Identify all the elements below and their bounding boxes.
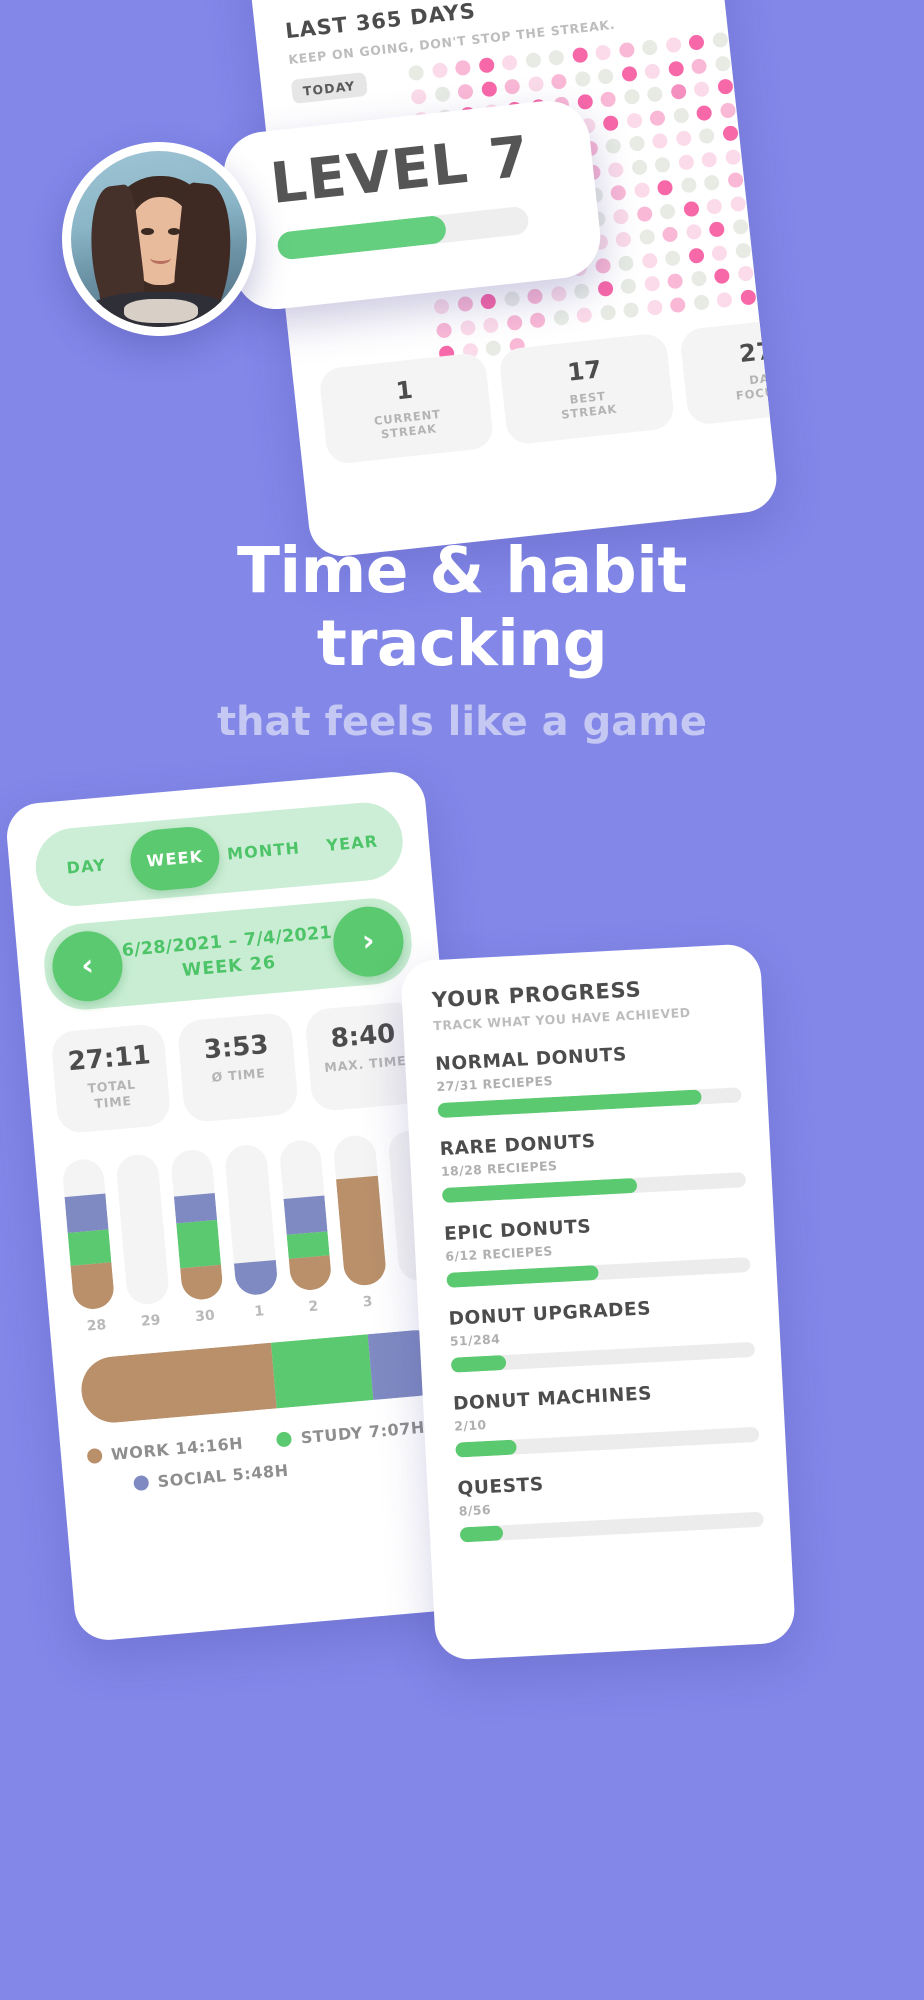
streak-dot (623, 89, 640, 106)
streak-dot (628, 135, 645, 152)
streak-dot (748, 146, 765, 163)
streak-dot (740, 76, 757, 93)
streak-dot (670, 83, 687, 100)
tab-week[interactable]: WEEK (128, 824, 222, 893)
streak-dot (602, 114, 619, 131)
streak-dot (776, 190, 780, 207)
progress-item-track (460, 1512, 764, 1543)
tab-month[interactable]: MONTH (218, 837, 308, 864)
streak-dot (685, 224, 702, 241)
streak-dot (753, 193, 770, 210)
streak-dot (638, 229, 655, 246)
headline-line-1: Time & habit (40, 534, 884, 607)
bar-segment-study (286, 1231, 329, 1259)
legend-item-work: WORK 14:16H (86, 1433, 244, 1466)
period-tab-bar[interactable]: DAY WEEK MONTH YEAR (33, 799, 406, 909)
streak-dot (599, 304, 616, 321)
streak-dot (755, 216, 772, 233)
streak-dot (774, 167, 780, 184)
streak-dot (698, 128, 715, 145)
progress-item-fill (437, 1089, 702, 1118)
streak-dot (576, 94, 593, 111)
streak-dot (667, 273, 684, 290)
progress-item-track (442, 1172, 746, 1203)
summary-total-time: 27:11 TOTALTIME (50, 1023, 172, 1134)
streak-dot (408, 65, 425, 82)
bar-segment-social (283, 1195, 327, 1234)
streak-dot (763, 73, 779, 90)
legend-color-swatch (87, 1447, 103, 1463)
streak-dot (610, 185, 627, 202)
streak-dot (779, 214, 780, 231)
streak-dot (724, 148, 741, 165)
legend-item-study: STUDY 7:07H (276, 1417, 426, 1449)
streak-dot (618, 42, 635, 59)
streak-dot (597, 281, 614, 298)
streak-dot (706, 198, 723, 215)
headline-subtitle: that feels like a game (40, 698, 884, 746)
streak-dot (613, 208, 630, 225)
streak-dot (431, 62, 448, 79)
streak-dot (760, 263, 777, 280)
streak-dot (600, 91, 617, 108)
streak-dot (657, 179, 674, 196)
streak-dot (703, 174, 720, 191)
streak-dot (553, 309, 570, 326)
total-segment-work (79, 1342, 277, 1425)
headline: Time & habit tracking that feels like a … (0, 534, 924, 746)
streak-dot (527, 75, 544, 92)
streak-dot (680, 177, 697, 194)
streak-dot (595, 44, 612, 61)
promo-stage: LAST 365 DAYS KEEP ON GOING, DON'T STOP … (0, 0, 924, 2000)
progress-item[interactable]: DONUT UPGRADES51/284 (448, 1293, 755, 1373)
summary-label: MAX. TIME (312, 1052, 418, 1077)
bar-track (224, 1143, 278, 1296)
progress-item-track (437, 1087, 741, 1118)
streak-dot (740, 289, 757, 306)
chart-legend: WORK 14:16H STUDY 7:07H SOCIAL 5:48H (86, 1415, 457, 1497)
tab-day[interactable]: DAY (41, 853, 131, 880)
streak-dot (633, 182, 650, 199)
bar-column: 30 (170, 1148, 227, 1326)
level-progress-track (276, 206, 530, 261)
streak-dot (714, 55, 731, 72)
progress-item[interactable]: QUESTS8/56 (457, 1463, 764, 1543)
bar-column: 28 (61, 1157, 118, 1335)
streak-dot (457, 296, 474, 313)
streak-dot (647, 86, 664, 103)
streak-dot (711, 244, 728, 261)
streak-dot (478, 57, 495, 74)
streak-dot (654, 156, 671, 173)
bar-segment-social (234, 1259, 278, 1295)
streak-dot (626, 112, 643, 129)
bar-column: 29 (116, 1152, 173, 1330)
streak-dot (652, 133, 669, 150)
streak-dot (717, 78, 734, 95)
bar-day-label: 2 (308, 1298, 319, 1315)
avatar (62, 142, 256, 336)
level-label: LEVEL 7 (268, 126, 560, 213)
bar-day-label: 28 (86, 1317, 107, 1335)
streak-dot (646, 299, 663, 316)
streak-dot (457, 83, 474, 100)
progress-item-fill (460, 1525, 503, 1542)
chevron-right-icon: › (361, 926, 376, 957)
progress-item[interactable]: RARE DONUTS18/28 RECIEPES (439, 1123, 746, 1203)
summary-row: 27:11 TOTALTIME 3:53 Ø TIME 8:40 MAX. TI… (50, 1001, 425, 1134)
bar-segment-social (174, 1193, 218, 1224)
streak-dot (571, 47, 588, 64)
streak-dot (693, 81, 710, 98)
streak-dot (719, 102, 736, 119)
streak-dot (573, 283, 590, 300)
streak-dot (644, 63, 661, 80)
total-distribution-bar (79, 1327, 451, 1425)
streak-dot (525, 52, 542, 69)
streak-dot (436, 322, 453, 339)
streak-dot (649, 109, 666, 126)
progress-card: YOUR PROGRESS TRACK WHAT YOU HAVE ACHIEV… (400, 943, 796, 1661)
streak-dot (483, 317, 500, 334)
bar-track (332, 1133, 386, 1286)
streak-dot (771, 143, 780, 160)
streak-dot (644, 275, 661, 292)
legend-color-swatch (133, 1474, 149, 1490)
progress-item[interactable]: EPIC DONUTS6/12 RECIEPES (444, 1208, 751, 1288)
streak-dot (722, 125, 739, 142)
bar-segment-work (288, 1255, 332, 1291)
streak-dot (503, 291, 520, 308)
legend-label: STUDY 7:07H (300, 1417, 426, 1447)
streak-dot (667, 60, 684, 77)
bar-day-label: 1 (254, 1303, 265, 1320)
streak-dot (727, 172, 744, 189)
bar-segment-study (176, 1219, 221, 1267)
next-period-button[interactable]: › (330, 904, 406, 980)
streak-dot (766, 97, 780, 114)
streak-dot (758, 27, 775, 44)
bar-segment-social (64, 1193, 108, 1232)
streak-dot (641, 252, 658, 269)
streak-dot (683, 200, 700, 217)
streak-dot (691, 58, 708, 75)
summary-value: 3:53 (182, 1028, 290, 1067)
streak-dot (623, 301, 640, 318)
streak-dot (455, 60, 472, 77)
streak-dot (459, 319, 476, 336)
legend-color-swatch (276, 1431, 292, 1447)
streak-dot (664, 250, 681, 267)
progress-item-track (455, 1427, 759, 1458)
bar-column: 3 (332, 1133, 389, 1311)
streak-dot (636, 205, 653, 222)
streak-dot (745, 123, 762, 140)
streak-dot (618, 255, 635, 272)
date-range-label: 6/28/2021 – 7/4/2021 WEEK 26 (120, 922, 335, 985)
streak-dot (659, 203, 676, 220)
streak-dot (550, 286, 567, 303)
today-badge: TODAY (291, 72, 368, 104)
streak-dot (693, 294, 710, 311)
streak-dot (621, 65, 638, 82)
streak-dot (696, 104, 713, 121)
streak-dot (527, 288, 544, 305)
bar-track (170, 1148, 224, 1301)
bar-column: 2 (278, 1138, 335, 1316)
legend-label: WORK 14:16H (110, 1433, 244, 1463)
progress-item-fill (446, 1265, 599, 1288)
summary-value: 8:40 (309, 1017, 417, 1056)
progress-item[interactable]: NORMAL DONUTS27/31 RECIEPES (435, 1038, 742, 1118)
streak-dot (735, 29, 752, 46)
streak-dot (768, 120, 779, 137)
streak-dot (763, 286, 780, 303)
streak-dot (734, 242, 751, 259)
progress-item-track (446, 1257, 750, 1288)
streak-dot (433, 298, 450, 315)
bar-track (61, 1157, 115, 1310)
streak-dot (688, 247, 705, 264)
streak-dot (615, 231, 632, 248)
streak-dot (480, 293, 497, 310)
streak-dot (737, 53, 754, 70)
progress-item-fill (451, 1355, 506, 1373)
streak-dot (501, 55, 518, 72)
streak-dot (729, 195, 746, 212)
date-range-selector: ‹ 6/28/2021 – 7/4/2021 WEEK 26 › (41, 895, 415, 1013)
progress-item-fill (455, 1439, 516, 1457)
progress-item-fill (442, 1178, 637, 1203)
streak-dot (688, 34, 705, 51)
streak-dot (504, 78, 521, 95)
stat-current-streak: 1 CURRENTSTREAK (318, 351, 495, 465)
level-progress-fill (276, 215, 447, 261)
bar-track (278, 1138, 332, 1291)
streak-dot (607, 161, 624, 178)
streak-dot (620, 278, 637, 295)
bar-column: 1 (224, 1143, 281, 1321)
bar-segment-study (68, 1229, 112, 1265)
streak-dot (434, 86, 451, 103)
streak-dot (605, 138, 622, 155)
streak-dot (701, 151, 718, 168)
stat-days-focused: 270 DAYSFOCUSED (679, 312, 780, 426)
tab-year[interactable]: YEAR (307, 829, 397, 856)
streak-dot (761, 50, 778, 67)
streak-dot (551, 73, 568, 90)
prev-period-button[interactable]: ‹ (50, 928, 126, 1004)
streak-dot (642, 39, 659, 56)
bar-track (116, 1152, 170, 1305)
bar-day-label: 29 (140, 1312, 161, 1330)
stat-best-streak: 17 BESTSTREAK (498, 332, 675, 446)
progress-item-track (451, 1342, 755, 1373)
streak-dot (669, 296, 686, 313)
streak-dot (743, 99, 760, 116)
bar-segment-work (336, 1175, 387, 1286)
streak-dot (690, 270, 707, 287)
chevron-left-icon: ‹ (80, 951, 95, 982)
streak-dot (481, 80, 498, 97)
streak-dot (709, 221, 726, 238)
streak-dot (737, 265, 754, 282)
streak-dot (675, 130, 692, 147)
summary-label: Ø TIME (185, 1063, 291, 1088)
streak-dot (672, 107, 689, 124)
progress-item[interactable]: DONUT MACHINES2/10 (453, 1378, 760, 1458)
bar-segment-work (180, 1264, 224, 1300)
bar-day-label: 30 (195, 1307, 216, 1325)
progress-list: NORMAL DONUTS27/31 RECIEPESRARE DONUTS18… (435, 1038, 764, 1542)
streak-dot (594, 257, 611, 274)
streak-dot (750, 169, 767, 186)
summary-value: 27:11 (56, 1039, 164, 1078)
weekly-bar-chart: 2829301234 (61, 1128, 443, 1335)
streak-dot (548, 49, 565, 66)
streak-dot (758, 239, 775, 256)
streak-dot (410, 88, 427, 105)
streak-dot (597, 68, 614, 85)
streak-dot (716, 291, 733, 308)
avatar-photo (71, 151, 247, 327)
summary-label: TOTALTIME (59, 1074, 167, 1116)
streak-dot (714, 268, 731, 285)
streak-dot (665, 37, 682, 54)
summary-average-time: 3:53 Ø TIME (177, 1012, 299, 1123)
streak-dot (678, 154, 695, 171)
streak-dot (529, 312, 546, 329)
streak-dot (576, 306, 593, 323)
streak-dot (662, 226, 679, 243)
bar-segment-work (70, 1262, 115, 1310)
streak-dot (631, 159, 648, 176)
streak-dot (574, 70, 591, 87)
headline-line-2: tracking (40, 607, 884, 680)
stat-value: 270 (686, 329, 780, 374)
streak-dot (732, 219, 749, 236)
streak-dot (712, 32, 729, 49)
streak-dot (506, 314, 523, 331)
total-segment-study (271, 1334, 373, 1408)
bar-day-label: 3 (362, 1293, 373, 1310)
